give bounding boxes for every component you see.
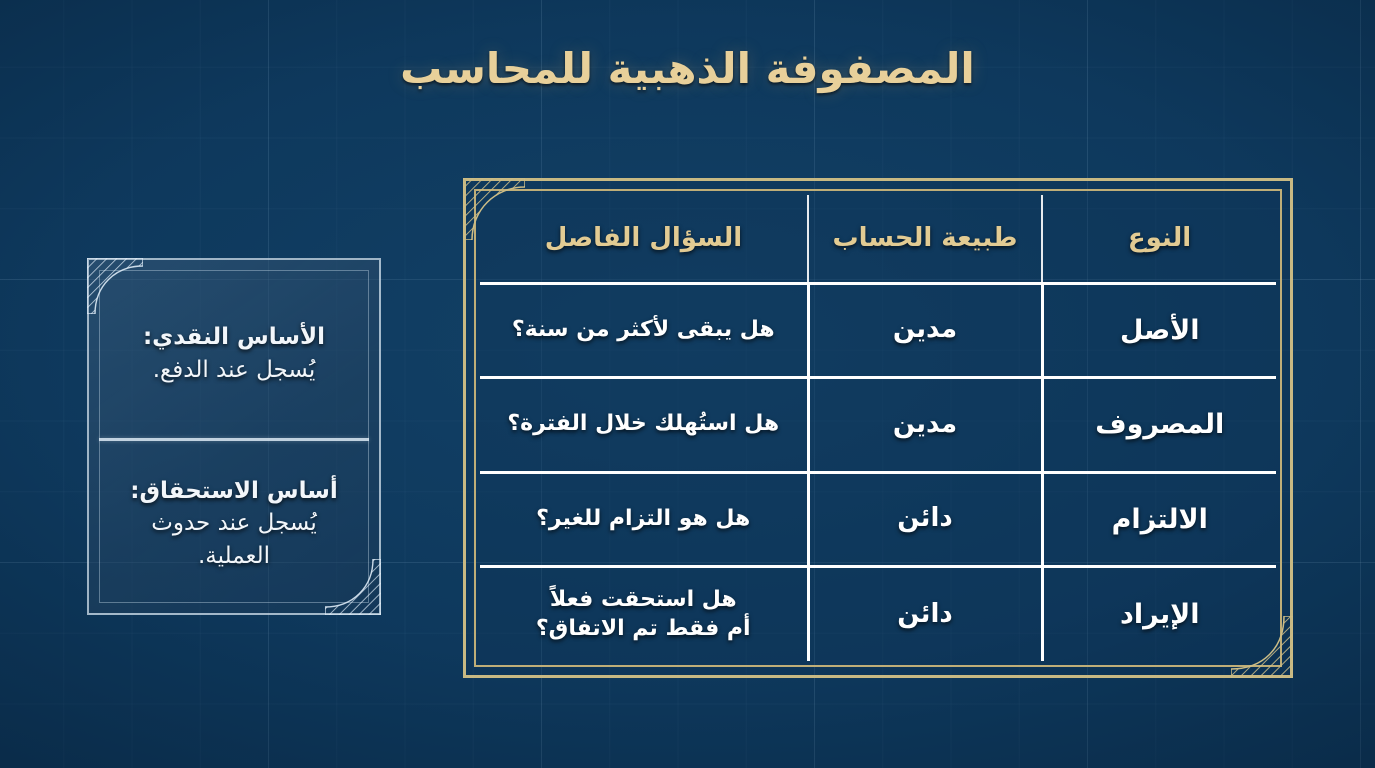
table-header: النوع طبيعة الحساب السؤال الفاصل	[480, 195, 1276, 283]
cash-basis-text: الأساس النقدي: يُسجل عند الدفع.	[143, 321, 325, 386]
table-row: الأصلمدينهل يبقى لأكثر من سنة؟	[480, 283, 1276, 378]
cell-type: الالتزام	[1042, 472, 1276, 567]
cell-question: هل يبقى لأكثر من سنة؟	[480, 283, 808, 378]
cell-type: الأصل	[1042, 283, 1276, 378]
cell-type: الإيراد	[1042, 567, 1276, 662]
table-body: الأصلمدينهل يبقى لأكثر من سنة؟المصروفمدي…	[480, 283, 1276, 661]
cell-type: المصروف	[1042, 378, 1276, 473]
accrual-basis-desc: يُسجل عند حدوث العملية.	[119, 507, 349, 572]
accrual-basis-block: أساس الاستحقاق: يُسجل عند حدوث العملية.	[89, 440, 379, 607]
table-row: الإيراددائنهل استحقت فعلاًأم فقط تم الات…	[480, 567, 1276, 662]
slide-canvas: المصفوفة الذهبية للمحاسب الأساس النقدي: …	[0, 0, 1375, 768]
column-header-nature: طبيعة الحساب	[808, 195, 1042, 283]
cell-nature: دائن	[808, 567, 1042, 662]
cell-question: هل استحقت فعلاًأم فقط تم الاتفاق؟	[480, 567, 808, 662]
accrual-basis-text: أساس الاستحقاق: يُسجل عند حدوث العملية.	[119, 475, 349, 573]
column-header-question: السؤال الفاصل	[480, 195, 808, 283]
cash-basis-block: الأساس النقدي: يُسجل عند الدفع.	[89, 270, 379, 438]
table-row: الالتزامدائنهل هو التزام للغير؟	[480, 472, 1276, 567]
cash-basis-desc: يُسجل عند الدفع.	[143, 354, 325, 387]
accrual-basis-title: أساس الاستحقاق:	[119, 475, 349, 508]
cell-nature: مدين	[808, 283, 1042, 378]
cell-question: هل هو التزام للغير؟	[480, 472, 808, 567]
cell-question: هل استُهلك خلال الفترة؟	[480, 378, 808, 473]
accounting-basis-panel: الأساس النقدي: يُسجل عند الدفع. أساس الا…	[87, 258, 381, 615]
column-header-type: النوع	[1042, 195, 1276, 283]
accounting-matrix-table: النوع طبيعة الحساب السؤال الفاصل الأصلمد…	[480, 195, 1276, 661]
cell-nature: دائن	[808, 472, 1042, 567]
cell-nature: مدين	[808, 378, 1042, 473]
page-title: المصفوفة الذهبية للمحاسب	[0, 44, 1375, 93]
cash-basis-title: الأساس النقدي:	[143, 321, 325, 354]
matrix-table-frame: النوع طبيعة الحساب السؤال الفاصل الأصلمد…	[463, 178, 1293, 678]
table-header-row: النوع طبيعة الحساب السؤال الفاصل	[480, 195, 1276, 283]
table-row: المصروفمدينهل استُهلك خلال الفترة؟	[480, 378, 1276, 473]
